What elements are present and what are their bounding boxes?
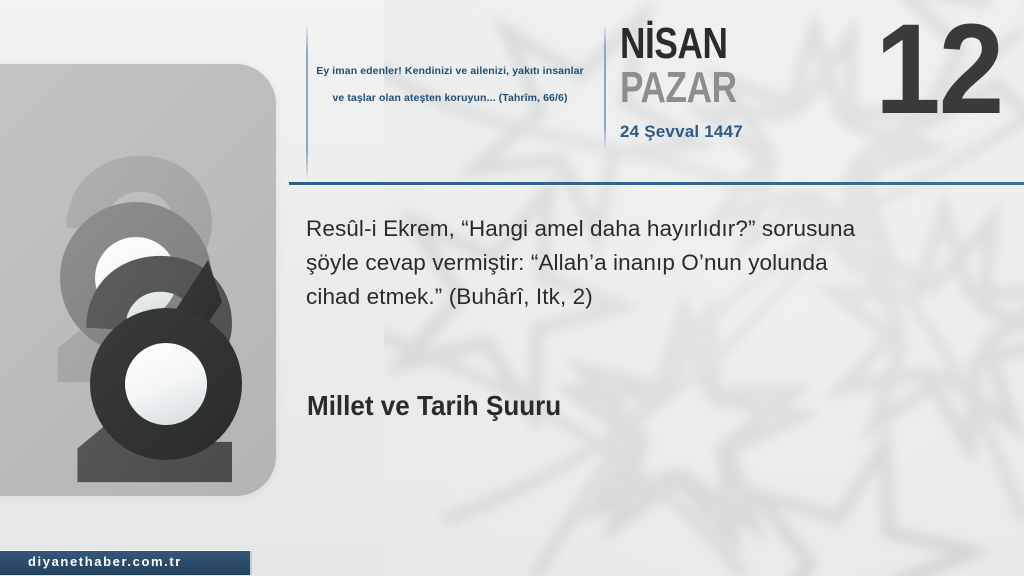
hadith-line-1: Resûl-i Ekrem, “Hangi amel daha hayırlıd… [306,212,921,246]
horizontal-divider [289,182,1024,185]
hadith-line-2: şöyle cevap vermiştir: “Allah’a inanıp O… [306,246,921,280]
date-block: NİSAN PAZAR 24 Şevval 1447 [620,24,850,142]
calendar-page: Ey iman edenler! Kendinizi ve ailenizi, … [0,0,1024,576]
hadith-line-3: cihad etmek.” (Buhârî, Itk, 2) [306,280,921,314]
verse-line-2: ve taşlar olan ateşten koruyun... (Tahrî… [300,85,600,112]
hijri-date-label: 24 Şevval 1447 [620,122,850,142]
verse-line-1: Ey iman edenler! Kendinizi ve ailenizi, … [300,58,600,85]
month-label: NİSAN [620,24,804,64]
hadith-text: Resûl-i Ekrem, “Hangi amel daha hayırlıd… [306,212,921,314]
quran-verse: Ey iman edenler! Kendinizi ve ailenizi, … [300,58,600,112]
website-label[interactable]: diyanethaber.com.tr [28,554,182,569]
day-number: 12 [875,6,1002,134]
weekday-label: PAZAR [620,66,804,110]
vertical-divider-right [604,26,606,148]
year-logo-2026 [0,64,276,496]
topic-heading: Millet ve Tarih Şuuru [307,390,561,422]
